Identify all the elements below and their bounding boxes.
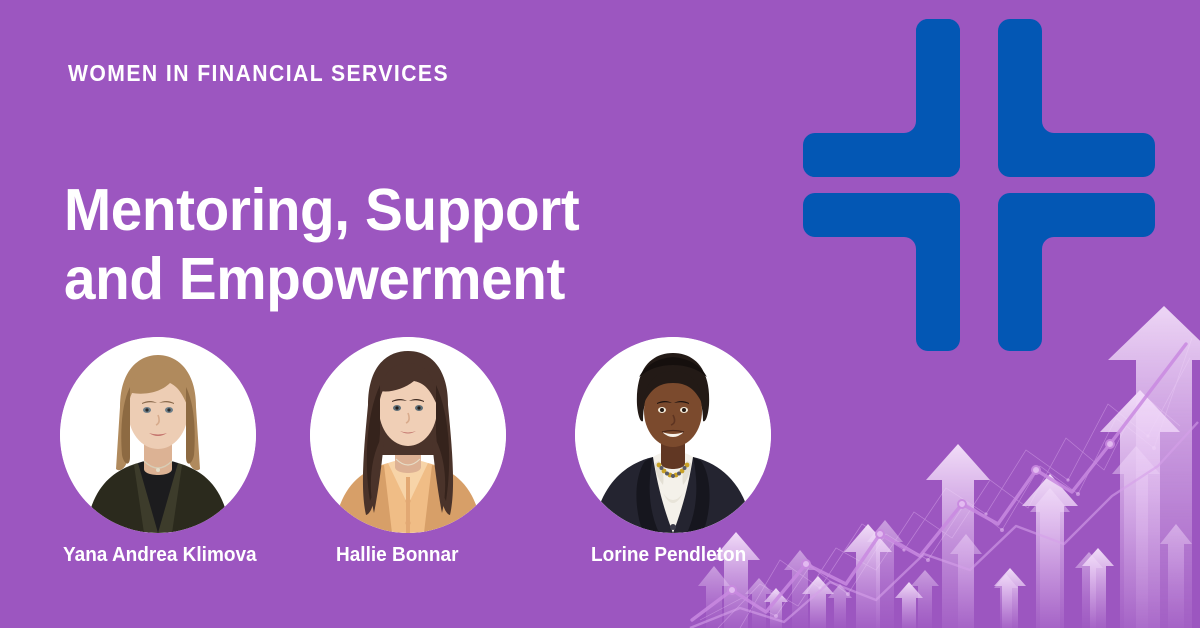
speaker-name: Hallie Bonnar [336, 543, 498, 567]
eyebrow-label: WOMEN IN FINANCIAL SERVICES [68, 62, 449, 85]
headline-line-2: and Empowerment [64, 245, 678, 315]
promo-banner: WOMEN IN FINANCIAL SERVICES Mentoring, S… [0, 0, 1200, 628]
portrait-hallie-bonnar [310, 337, 506, 533]
speaker-name: Lorine Pendleton [591, 543, 762, 567]
speaker-name: Yana Andrea Klimova [63, 543, 246, 567]
speaker-list: Yana Andrea Klimova [60, 337, 760, 577]
portrait-yana-andrea-klimova [60, 337, 256, 533]
page-title: Mentoring, Support and Empowerment [64, 176, 678, 315]
pinwheel-cross-logo [803, 19, 1155, 351]
speaker-card: Lorine Pendleton [575, 337, 771, 567]
portrait-lorine-pendleton [575, 337, 771, 533]
speaker-card: Hallie Bonnar [310, 337, 506, 567]
speaker-card: Yana Andrea Klimova [60, 337, 256, 567]
headline-line-1: Mentoring, Support [64, 176, 678, 246]
